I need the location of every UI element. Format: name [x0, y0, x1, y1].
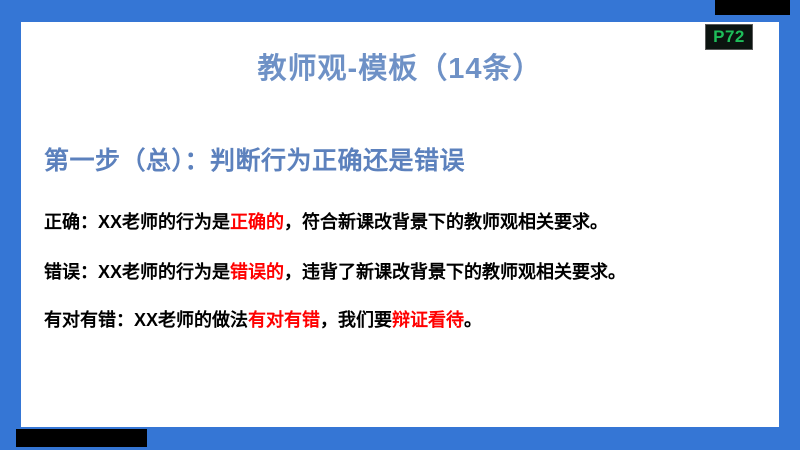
slide-root: 教师观-模板（14条） P72 第一步（总）：判断行为正确还是错误 正确：XX老…	[0, 0, 800, 450]
body-line-correct: 正确：XX老师的行为是正确的，符合新课改背景下的教师观相关要求。	[44, 212, 608, 234]
text-segment: XX老师的做法	[134, 310, 248, 330]
text-segment: 有对有错：	[44, 310, 134, 330]
page-title: 教师观-模板（14条）	[21, 52, 779, 87]
body-line-wrong: 错误：XX老师的行为是错误的，违背了新课改背景下的教师观相关要求。	[44, 262, 626, 284]
text-segment: 辩证看待	[392, 310, 464, 330]
text-segment: ，符合新课改背景下的教师观相关要求。	[284, 212, 608, 232]
text-segment: XX老师的行为是	[98, 262, 230, 282]
text-segment: 有对有错	[248, 310, 320, 330]
bottom-redaction-bar	[16, 429, 147, 447]
text-segment: 正确：	[44, 212, 98, 232]
page-number-badge: P72	[705, 24, 753, 50]
top-redaction-bar	[715, 0, 790, 15]
text-segment: 错误：	[44, 262, 98, 282]
text-segment: 正确的	[230, 212, 284, 232]
text-segment: ，我们要	[320, 310, 392, 330]
body-line-mixed: 有对有错：XX老师的做法有对有错，我们要辩证看待。	[44, 310, 482, 332]
text-segment: XX老师的行为是	[98, 212, 230, 232]
step-heading: 第一步（总）：判断行为正确还是错误	[44, 146, 465, 176]
slide-card: 教师观-模板（14条） P72 第一步（总）：判断行为正确还是错误 正确：XX老…	[21, 22, 779, 427]
text-segment: 。	[464, 310, 482, 330]
text-segment: ，违背了新课改背景下的教师观相关要求。	[284, 262, 626, 282]
text-segment: 错误的	[230, 262, 284, 282]
